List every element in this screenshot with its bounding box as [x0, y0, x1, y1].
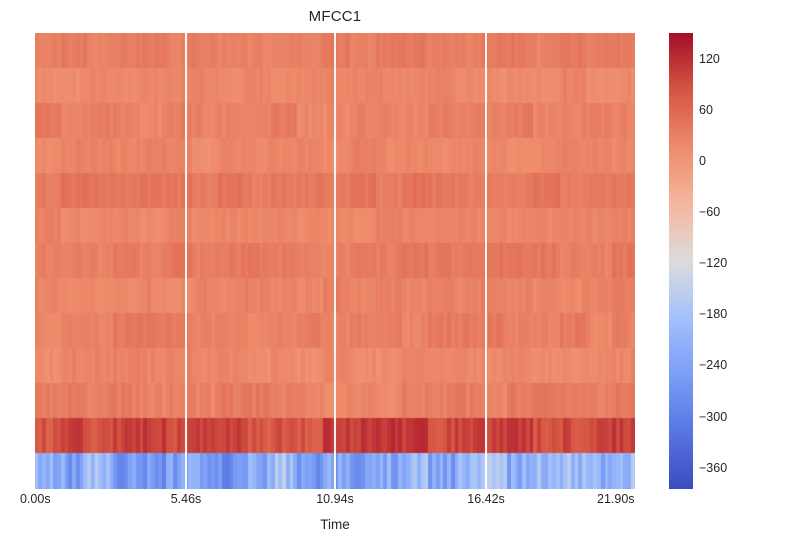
x-tick-label: 0.00s	[20, 492, 51, 506]
colorbar-tick-label: −180	[699, 307, 727, 321]
gridline-5.46s	[185, 33, 187, 489]
x-tick-label: 5.46s	[171, 492, 202, 506]
x-tick-label: 21.90s	[597, 492, 635, 506]
page-title: MFCC1	[35, 8, 635, 25]
colorbar-tick-label: −360	[699, 461, 727, 475]
colorbar-tick-label: −240	[699, 358, 727, 372]
gridline-16.42s	[485, 33, 487, 489]
x-axis-label: Time	[35, 517, 635, 532]
colorbar-tick-label: −300	[699, 410, 727, 424]
colorbar	[669, 33, 693, 489]
colorbar-tick-label: −120	[699, 256, 727, 270]
colorbar-tick-label: 60	[699, 103, 713, 117]
gridline-10.94s	[334, 33, 336, 489]
x-axis-tick-labels: 0.00s5.46s10.94s16.42s21.90s	[0, 492, 800, 516]
colorbar-tick-label: −60	[699, 205, 720, 219]
colorbar-tick-label: 120	[699, 52, 720, 66]
heatmap-figure: MFCC1 0.00s5.46s10.94s16.42s21.90s Time …	[0, 0, 800, 550]
colorbar-tick-label: 0	[699, 154, 706, 168]
heatmap-plot-area[interactable]	[35, 33, 635, 489]
colorbar-gradient	[669, 33, 693, 489]
colorbar-tick-labels: 120600−60−120−180−240−300−360	[699, 33, 779, 489]
x-tick-label: 10.94s	[316, 492, 354, 506]
x-tick-label: 16.42s	[467, 492, 505, 506]
